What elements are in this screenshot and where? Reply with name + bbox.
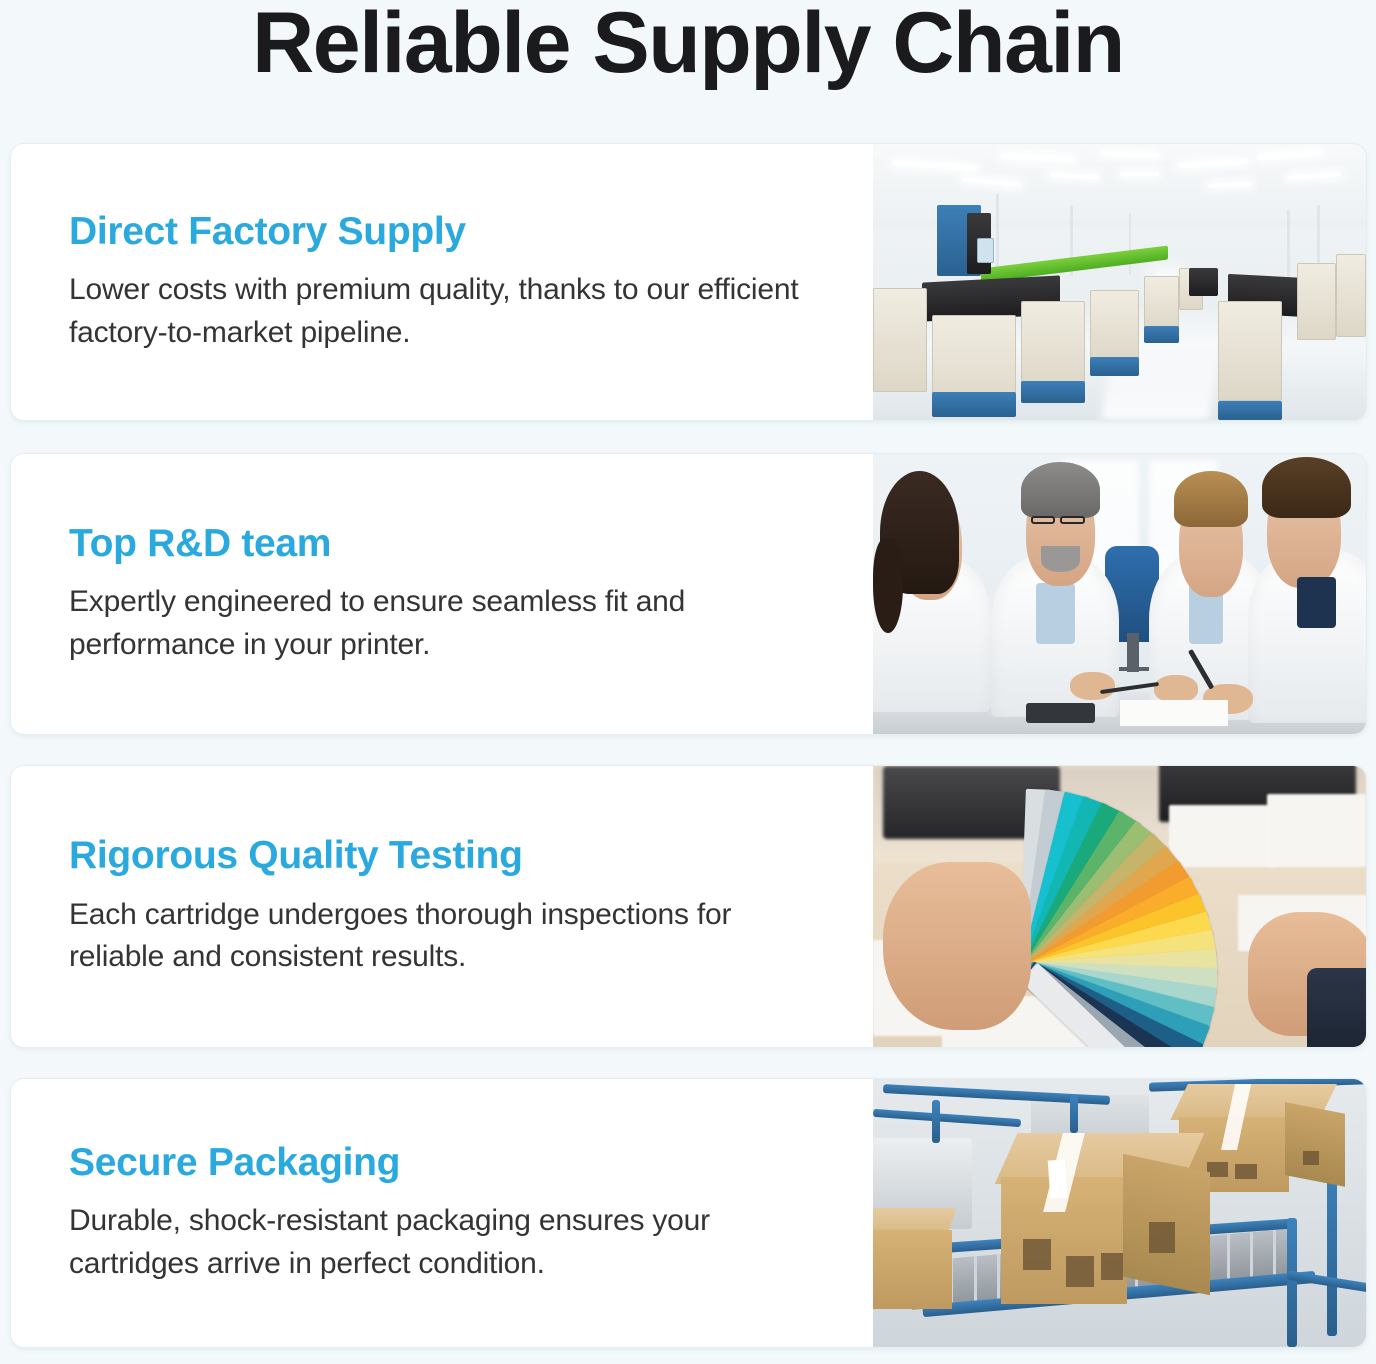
feature-card-rigorous-quality-testing: Rigorous Quality Testing Each cartridge … (10, 765, 1367, 1048)
color-swatch-illustration (873, 766, 1366, 1047)
conveyor-boxes-illustration (873, 1079, 1366, 1347)
box-partial (873, 1208, 952, 1310)
feature-card-top-rd-team: Top R&D team Expertly engineered to ensu… (10, 453, 1367, 735)
card-body: Each cartridge undergoes thorough inspec… (69, 894, 829, 979)
card-text-block: Top R&D team Expertly engineered to ensu… (11, 454, 873, 734)
card-text-block: Direct Factory Supply Lower costs with p… (11, 144, 873, 420)
lab-team-illustration (873, 454, 1366, 734)
card-image-rd-team (873, 454, 1366, 734)
card-image-quality-testing (873, 766, 1366, 1047)
card-text-block: Secure Packaging Durable, shock-resistan… (11, 1079, 873, 1347)
page-title: Reliable Supply Chain (0, 0, 1376, 93)
card-body: Expertly engineered to ensure seamless f… (69, 581, 829, 666)
card-image-packaging (873, 1079, 1366, 1347)
feature-card-secure-packaging: Secure Packaging Durable, shock-resistan… (10, 1078, 1367, 1348)
card-heading: Rigorous Quality Testing (69, 834, 829, 878)
card-heading: Direct Factory Supply (69, 210, 829, 254)
card-image-factory (873, 144, 1366, 420)
box-front (1001, 1133, 1218, 1305)
card-body: Durable, shock-resistant packaging ensur… (69, 1200, 829, 1285)
card-heading: Top R&D team (69, 522, 829, 566)
feature-card-direct-factory-supply: Direct Factory Supply Lower costs with p… (10, 143, 1367, 421)
feature-benefits-page: Reliable Supply Chain Direct Factory Sup… (0, 0, 1376, 1364)
card-body: Lower costs with premium quality, thanks… (69, 269, 829, 354)
factory-illustration (873, 144, 1366, 420)
card-text-block: Rigorous Quality Testing Each cartridge … (11, 766, 873, 1047)
card-heading: Secure Packaging (69, 1141, 829, 1185)
